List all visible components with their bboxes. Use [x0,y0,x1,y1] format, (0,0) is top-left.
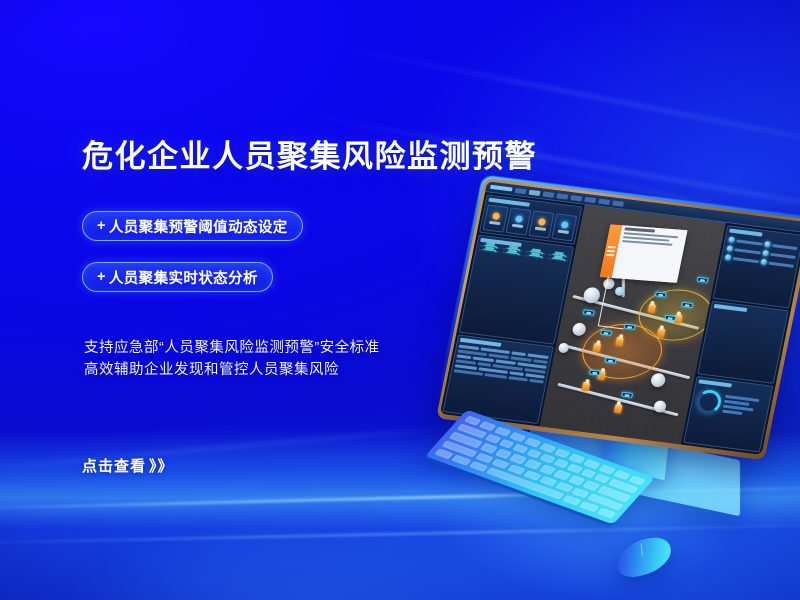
monitor-screen [440,181,800,454]
nav-item[interactable] [543,191,555,197]
data-list-panel [443,335,554,424]
plus-icon: + [97,218,106,234]
key [539,476,557,487]
key [524,437,541,447]
gauge-chart [547,257,568,262]
status-dot-icon [728,236,735,243]
info-item[interactable] [760,259,794,269]
key [499,439,515,449]
stat-value [557,230,569,234]
status-dot-icon [725,254,732,261]
donut-chart [692,386,768,422]
gauge-grid [478,245,569,262]
key [628,476,645,486]
key [524,459,541,469]
stat-value [489,221,501,225]
camera-feed[interactable] [749,317,783,321]
nav-item[interactable] [529,189,541,195]
nav-item[interactable] [612,200,624,206]
gauge-chart [478,249,499,254]
feature-pill-label: 人员聚集预警阈值动态设定 [109,216,288,237]
key [594,474,610,484]
key [479,421,496,431]
key [464,416,481,426]
key [476,453,494,464]
description-line-2: 高效辅助企业发现和管控人员聚集风险 [84,359,380,381]
feature-pill-threshold[interactable]: + 人员聚集预警阈值动态设定 [82,211,303,241]
status-dot-icon [760,259,767,266]
key [598,465,615,475]
stat-value [512,224,524,228]
camera-feed[interactable] [750,315,784,319]
computer-illustration [420,170,800,590]
key [434,448,454,459]
camera-grid [713,311,784,322]
nav-item[interactable] [557,193,569,199]
info-value [772,243,798,249]
status-dot-icon [727,245,734,252]
key [568,475,585,485]
dashboard-logo [490,185,513,192]
key [494,427,511,437]
key [539,465,556,475]
mouse[interactable] [616,531,673,583]
status-icon [538,218,546,226]
info-item[interactable] [725,254,759,264]
gauge-chart [524,254,545,259]
key [485,434,501,444]
feature-pill-label: 人员聚集实时状态分析 [109,267,258,288]
nav-item[interactable] [515,187,527,193]
info-rows [724,235,800,269]
status-dot-icon [763,241,770,248]
key [583,459,600,469]
light-ray [0,484,479,520]
info-value [770,252,796,258]
status-icon [515,215,523,223]
key [510,454,527,464]
double-chevron-right-icon: 》》 [149,458,174,475]
key [583,481,600,491]
key [452,455,472,466]
key [553,470,570,480]
feature-pill-realtime[interactable]: + 人员聚集实时状态分析 [82,262,273,292]
nav-item[interactable] [584,196,596,202]
key [571,487,589,498]
stat-box[interactable] [551,213,577,241]
cta-label: 点击查看 [82,458,146,475]
status-icon [561,221,569,229]
page-title: 危化企业人员聚集风险监测预警 [82,131,537,176]
key [596,507,616,518]
key [569,454,586,464]
dashboard [440,181,800,454]
stat-box[interactable] [505,207,531,235]
donut-legend [722,395,765,418]
key [554,448,571,458]
camera-feed[interactable] [713,313,747,317]
description-text: 支持应急部“人员聚集风险监测预警”安全标准 高效辅助企业发现和管控人员聚集风险 [84,337,380,381]
key [512,444,528,454]
key [579,501,599,512]
key [539,454,555,464]
key [553,459,569,469]
nav-item[interactable] [598,198,610,204]
key [480,443,497,453]
description-line-1: 支持应急部“人员聚集风险监测预警”安全标准 [84,337,380,359]
donut-ring [695,388,724,415]
key [492,458,510,469]
status-icon [492,212,500,220]
callout-body [611,225,687,283]
alarm-info-panel [713,225,800,308]
key [526,449,542,459]
donut-chart-panel [683,376,773,452]
key [469,461,489,472]
info-value [733,257,759,263]
banner-stage: 危化企业人员聚集风险监测预警 + 人员聚集预警阈值动态设定 + 人员聚集实时状态… [0,0,800,600]
plus-icon: + [97,269,106,285]
info-callout-popup[interactable] [599,224,687,283]
gauge-panel [459,234,575,345]
camera-panel [697,301,788,384]
info-value [768,261,794,267]
key [613,470,630,480]
stat-box[interactable] [483,204,509,232]
status-dot-icon [762,250,769,257]
info-value [737,239,763,245]
info-value [735,248,761,254]
data-list [454,345,549,384]
info-column [759,240,799,270]
dashboard-body [440,192,800,455]
key [508,464,526,475]
key [495,449,512,459]
key [555,481,573,492]
gauge-chart [501,252,522,257]
cta-link[interactable]: 点击查看》》 [82,455,174,476]
key [509,432,526,442]
key [523,470,541,481]
key [567,464,583,474]
key [562,495,582,506]
stat-box[interactable] [528,210,554,238]
stat-value [535,227,547,231]
info-column [724,235,764,265]
key [539,443,556,453]
key [580,469,596,479]
nav-item[interactable] [570,195,582,201]
